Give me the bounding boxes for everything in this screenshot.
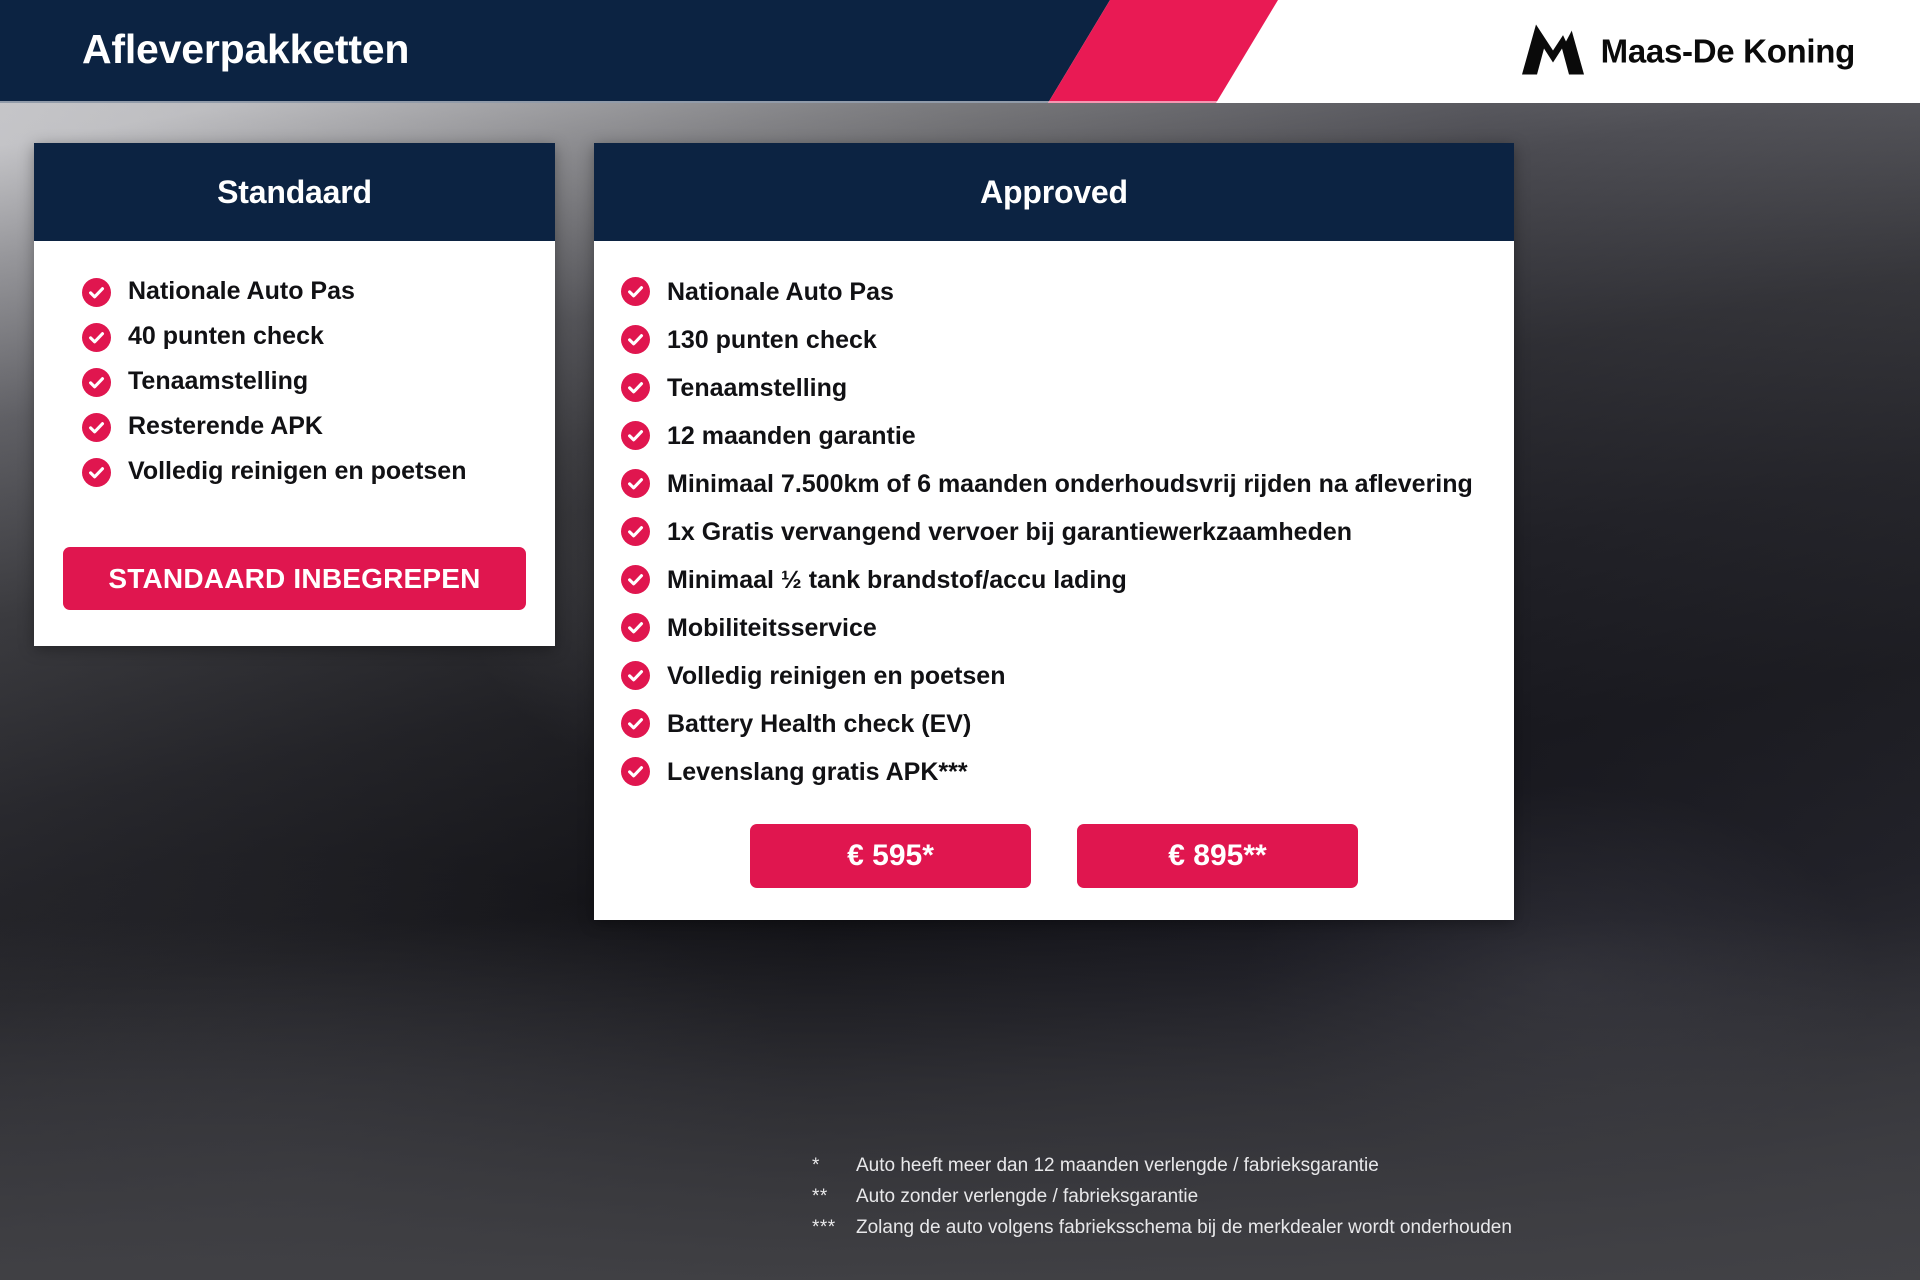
header-divider (0, 101, 1920, 103)
feature-label: Tenaamstelling (667, 369, 847, 407)
footnote-marker: ** (812, 1181, 856, 1212)
price-button-row: € 595* € 895** (594, 824, 1514, 888)
check-circle-icon (621, 661, 650, 690)
list-item: Volledig reinigen en poetsen (621, 657, 1514, 695)
check-circle-icon (621, 325, 650, 354)
price-button-595[interactable]: € 595* (750, 824, 1031, 888)
card-title-standaard: Standaard (217, 174, 372, 211)
package-card-standaard: Standaard Nationale Auto Pas 40 punten c… (34, 143, 555, 646)
feature-label: Resterende APK (128, 410, 323, 443)
list-item: 40 punten check (82, 320, 555, 353)
card-title-approved: Approved (980, 174, 1128, 211)
feature-label: Tenaamstelling (128, 365, 308, 398)
list-item: Tenaamstelling (82, 365, 555, 398)
check-circle-icon (82, 368, 111, 397)
feature-list-approved: Nationale Auto Pas 130 punten check Tena… (621, 273, 1514, 791)
list-item: 1x Gratis vervangend vervoer bij garanti… (621, 513, 1514, 551)
footnote-marker: * (812, 1150, 856, 1181)
feature-label: Levenslang gratis APK*** (667, 753, 968, 791)
feature-label: Mobiliteitsservice (667, 609, 877, 647)
card-header-standaard: Standaard (34, 143, 555, 241)
check-circle-icon (621, 421, 650, 450)
page-header: Afleverpakketten Maas-De Koning (0, 0, 1920, 103)
feature-label: Minimaal ½ tank brandstof/accu lading (667, 561, 1127, 599)
list-item: Battery Health check (EV) (621, 705, 1514, 743)
check-circle-icon (621, 709, 650, 738)
feature-label: 40 punten check (128, 320, 324, 353)
page-title: Afleverpakketten (82, 26, 409, 73)
check-circle-icon (82, 413, 111, 442)
check-circle-icon (82, 278, 111, 307)
check-circle-icon (621, 373, 650, 402)
brand-logo: Maas-De Koning (1522, 24, 1855, 79)
footnote-text: Auto heeft meer dan 12 maanden verlengde… (856, 1150, 1379, 1181)
footnotes: * Auto heeft meer dan 12 maanden verleng… (812, 1150, 1512, 1243)
card-header-approved: Approved (594, 143, 1514, 241)
footnote-text: Auto zonder verlengde / fabrieksgarantie (856, 1181, 1198, 1212)
package-card-approved: Approved Nationale Auto Pas 130 punten c… (594, 143, 1514, 920)
feature-label: Nationale Auto Pas (667, 273, 894, 311)
check-circle-icon (82, 323, 111, 352)
footnote-marker: *** (812, 1212, 856, 1243)
footnote-row: *** Zolang de auto volgens fabrieksschem… (812, 1212, 1512, 1243)
list-item: Resterende APK (82, 410, 555, 443)
poster-canvas: Afleverpakketten Maas-De Koning Standaar… (0, 0, 1920, 1280)
standaard-included-button[interactable]: STANDAARD INBEGREPEN (63, 547, 526, 610)
check-circle-icon (621, 613, 650, 642)
footnote-row: * Auto heeft meer dan 12 maanden verleng… (812, 1150, 1512, 1181)
maas-de-koning-m-icon (1522, 24, 1584, 79)
list-item: Tenaamstelling (621, 369, 1514, 407)
check-circle-icon (82, 458, 111, 487)
list-item: Minimaal ½ tank brandstof/accu lading (621, 561, 1514, 599)
feature-label: Volledig reinigen en poetsen (128, 455, 466, 488)
list-item: Minimaal 7.500km of 6 maanden onderhouds… (621, 465, 1514, 503)
feature-list-standaard: Nationale Auto Pas 40 punten check Tenaa… (82, 275, 555, 488)
check-circle-icon (621, 565, 650, 594)
check-circle-icon (621, 757, 650, 786)
list-item: Volledig reinigen en poetsen (82, 455, 555, 488)
check-circle-icon (621, 469, 650, 498)
list-item: Levenslang gratis APK*** (621, 753, 1514, 791)
footnote-row: ** Auto zonder verlengde / fabrieksgaran… (812, 1181, 1512, 1212)
feature-label: 1x Gratis vervangend vervoer bij garanti… (667, 513, 1352, 551)
check-circle-icon (621, 517, 650, 546)
list-item: 130 punten check (621, 321, 1514, 359)
list-item: 12 maanden garantie (621, 417, 1514, 455)
feature-label: 12 maanden garantie (667, 417, 916, 455)
price-button-895[interactable]: € 895** (1077, 824, 1358, 888)
footnote-text: Zolang de auto volgens fabrieksschema bi… (856, 1212, 1512, 1243)
list-item: Nationale Auto Pas (82, 275, 555, 308)
feature-label: Volledig reinigen en poetsen (667, 657, 1005, 695)
list-item: Mobiliteitsservice (621, 609, 1514, 647)
brand-name: Maas-De Koning (1601, 33, 1855, 71)
feature-label: 130 punten check (667, 321, 877, 359)
check-circle-icon (621, 277, 650, 306)
feature-label: Battery Health check (EV) (667, 705, 971, 743)
feature-label: Minimaal 7.500km of 6 maanden onderhouds… (667, 465, 1473, 503)
list-item: Nationale Auto Pas (621, 273, 1514, 311)
feature-label: Nationale Auto Pas (128, 275, 355, 308)
